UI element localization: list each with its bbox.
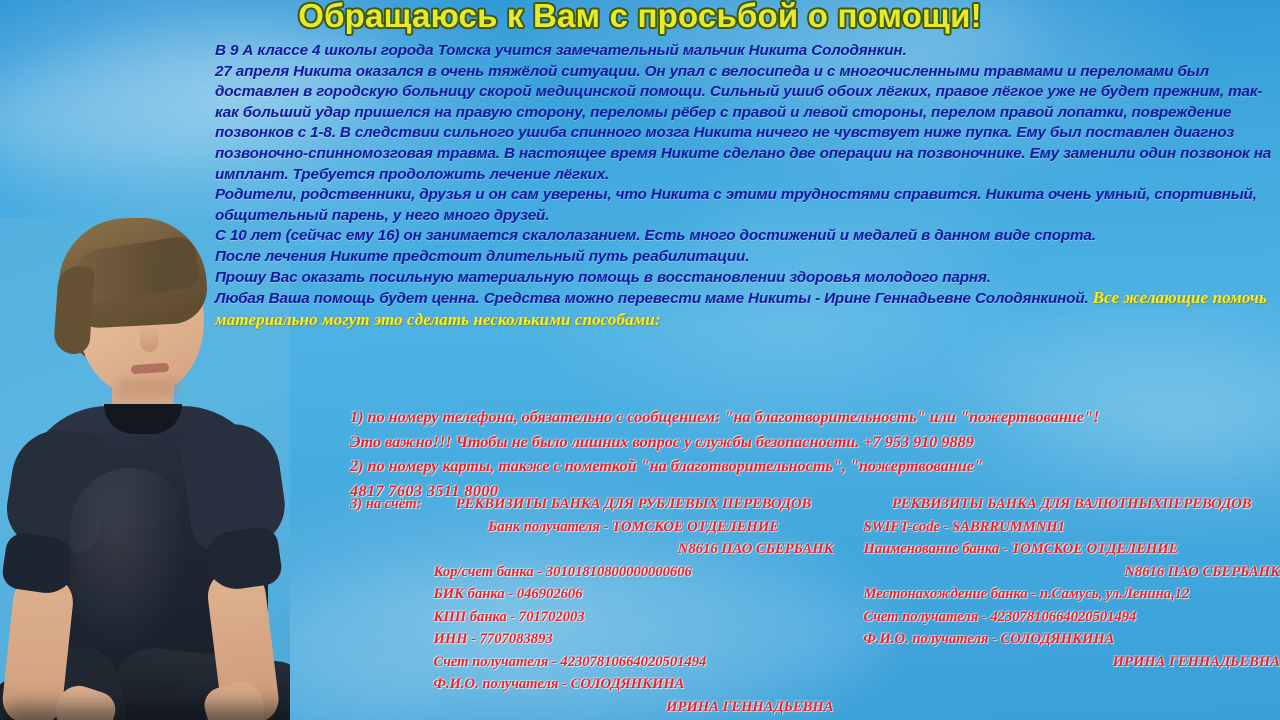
rub-corr-account: Кор/счет банка - 30101810800000000606 [434,561,834,584]
requisites-columns: 3) на счёт: РЕКВИЗИТЫ БАНКА ДЛЯ РУБЛЕВЫХ… [350,493,1280,718]
eyebrow-left [112,298,143,308]
sleeve-left [0,531,79,596]
rub-requisites-column: РЕКВИЗИТЫ БАНКА ДЛЯ РУБЛЕВЫХ ПЕРЕВОДОВ Б… [434,493,834,718]
hair-main [55,218,208,330]
currency-bank-line-1: Наименование банка - ТОМСКОЕ ОТДЕЛЕНИЕ [864,538,1280,561]
currency-location: Местонахождение банка - п.Самусь, ул.Лен… [864,583,1280,606]
face [76,250,207,396]
rub-inn: ИНН - 7707083893 [434,628,834,651]
currency-header: РЕКВИЗИТЫ БАНКА ДЛЯ ВАЛЮТНЫХПЕРЕВОДОВ [864,493,1280,516]
method-1-line-1: 1) по номеру телефона, обязательно с соо… [350,405,1280,430]
arm-right [205,565,282,720]
hair-fringe [69,234,202,305]
shoulder-right [178,418,290,554]
shirt-collar [104,404,182,434]
hand-right [200,677,270,720]
currency-requisites-column: РЕКВИЗИТЫ БАНКА ДЛЯ ВАЛЮТНЫХПЕРЕВОДОВ SW… [834,493,1280,673]
rub-bik: БИК банка - 046902606 [434,583,834,606]
mouth [131,363,170,375]
donation-methods: 1) по номеру телефона, обязательно с соо… [350,405,1280,503]
rub-kpp: КПП банка - 701702003 [434,606,834,629]
appeal-body-text: В 9 А классе 4 школы города Томска учитс… [215,41,1277,331]
sleeve-right [202,525,283,593]
appeal-paragraph-5: После лечения Никите предстоит длительны… [215,247,1277,268]
neck [112,350,174,422]
hair-back [55,219,206,369]
shoulder-left [1,423,115,557]
chin-shadow [116,378,180,396]
leg-left [0,659,174,720]
eyebrow-right [158,295,186,303]
hair-side [53,265,95,355]
currency-bank-line-2: N8616 ПАО СБЕРБАНК [864,561,1280,584]
torso [22,406,268,720]
knee [21,639,131,720]
bank-requisites: 3) на счёт: РЕКВИЗИТЫ БАНКА ДЛЯ РУБЛЕВЫХ… [350,493,1280,718]
appeal-paragraph-2: 27 апреля Никита оказался в очень тяжёло… [215,62,1277,186]
currency-recipient-1: Ф.И.О. получателя - СОЛОДЯНКИНА [864,628,1280,651]
currency-account: Счет получателя - 42307810664020501494 [864,606,1280,629]
eye-right [160,308,185,319]
rub-account: Счет получателя - 42307810664020501494 [434,651,834,674]
arm-left [0,571,75,720]
rub-header: РЕКВИЗИТЫ БАНКА ДЛЯ РУБЛЕВЫХ ПЕРЕВОДОВ [434,493,834,516]
leg-right [108,644,290,720]
currency-swift: SWIFT-code - SABRRUMMNH1 [864,516,1280,539]
page-title: Обращаюсь к Вам с просьбой о помощи! [0,0,1280,35]
nose [139,326,158,353]
currency-recipient-2: ИРИНА ГЕННАДЬЕВНА [864,651,1280,674]
pupil-right [169,310,178,319]
appeal-paragraph-7-wrapper: Любая Ваша помощь будет ценна. Средства … [215,288,1277,331]
method-3-label: 3) на счёт: [350,493,434,516]
rub-recipient-1: Ф.И.О. получателя - СОЛОДЯНКИНА [434,673,834,696]
eye-left [114,312,141,324]
rub-bank-line-1: Банк получателя - ТОМСКОЕ ОТДЕЛЕНИЕ [434,516,834,539]
appeal-paragraph-3: Родители, родственники, друзья и он сам … [215,185,1277,226]
appeal-paragraph-4: С 10 лет (сейчас ему 16) он занимается с… [215,226,1277,247]
appeal-paragraph-6: Прошу Вас оказать посильную материальную… [215,268,1277,289]
hand-left [50,680,120,720]
ear [70,310,90,340]
appeal-paragraph-7: Любая Ваша помощь будет ценна. Средства … [215,290,1089,307]
method-1-line-2: Это важно!!! Чтобы не было лишних вопрос… [350,430,1280,455]
charity-appeal-poster: Обращаюсь к Вам с просьбой о помощи! В 9… [0,0,1280,720]
pupil-left [124,314,133,323]
method-2-line-1: 2) по номеру карты, также с пометкой "на… [350,454,1280,479]
photo-bottom-shadow [0,706,290,720]
shirt-highlight [70,468,190,658]
rub-recipient-2: ИРИНА ГЕННАДЬЕВНА [434,696,834,719]
rub-bank-line-2: N8616 ПАО СБЕРБАНК [434,538,834,561]
appeal-paragraph-1: В 9 А классе 4 школы города Томска учитс… [215,41,1277,62]
